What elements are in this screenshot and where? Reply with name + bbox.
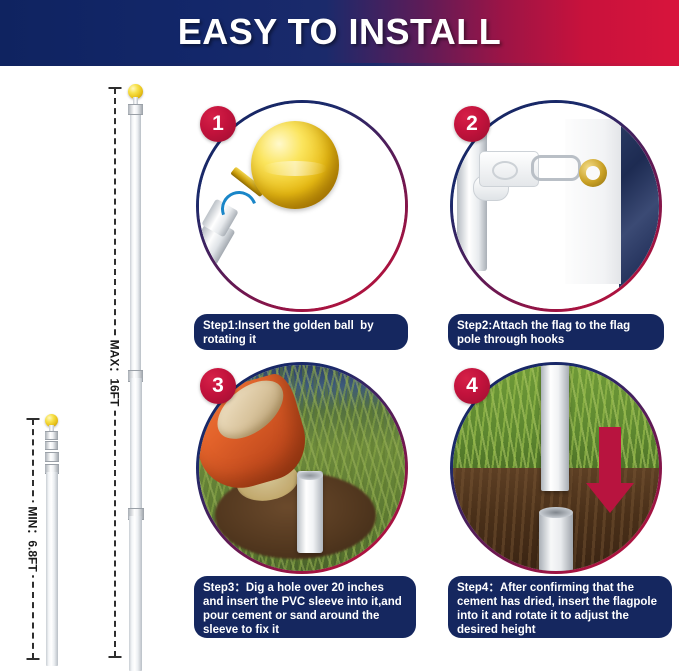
step-4-photo: 4 bbox=[450, 362, 662, 574]
step-number-badge-4: 4 bbox=[454, 368, 490, 404]
collapsed-flagpole bbox=[42, 414, 62, 666]
header-banner: EASY TO INSTALL bbox=[0, 0, 679, 63]
down-arrow-head-icon bbox=[586, 483, 634, 513]
golden-ball bbox=[251, 121, 339, 209]
flagpole-illustration-area: MAX：16FT MIN：6.8FT bbox=[0, 66, 190, 671]
pole-section-top bbox=[130, 104, 141, 374]
flag-white-header-band bbox=[565, 119, 621, 284]
extended-flagpole bbox=[126, 84, 148, 671]
step-number-badge-1: 1 bbox=[200, 106, 236, 142]
infographic-root: EASY TO INSTALL MAX：16FT MIN：6.8FT bbox=[0, 0, 679, 671]
step-number-badge-2: 2 bbox=[454, 106, 490, 142]
step-1-photo: 1 bbox=[196, 100, 408, 312]
measure-cap-bottom bbox=[109, 656, 122, 658]
step-3-photo: 3 bbox=[196, 362, 408, 574]
flagpole-being-inserted bbox=[541, 365, 569, 491]
step-caption-1: Step1:Insert the golden ball by rotating… bbox=[194, 314, 408, 350]
pole-section-bottom bbox=[129, 516, 142, 671]
pole-collar-1 bbox=[45, 431, 58, 440]
flag-mounting-clip bbox=[479, 151, 539, 187]
step-number-badge-3: 3 bbox=[200, 368, 236, 404]
pole-collar-3 bbox=[45, 452, 59, 462]
brass-grommet bbox=[579, 159, 607, 187]
pvc-sleeve bbox=[297, 471, 323, 553]
step-caption-2: Step2:Attach the flag to the flag pole t… bbox=[448, 314, 664, 350]
max-height-measure: MAX：16FT bbox=[102, 80, 128, 665]
page-title: EASY TO INSTALL bbox=[178, 11, 502, 53]
measure-cap-bottom bbox=[27, 658, 40, 660]
step-caption-4: Step4：After confirming that the cement h… bbox=[448, 576, 672, 638]
pole-section-bottom bbox=[46, 472, 58, 666]
navy-flag bbox=[619, 111, 659, 291]
buried-pvc-sleeve bbox=[539, 511, 573, 571]
carabiner-hook-icon bbox=[531, 155, 581, 181]
max-height-label: MAX：16FT bbox=[105, 335, 126, 410]
pole-collar-1 bbox=[128, 104, 143, 115]
down-arrow-icon bbox=[599, 427, 621, 485]
min-height-label: MIN：6.8FT bbox=[23, 502, 44, 575]
step-caption-3: Step3：Dig a hole over 20 inches and inse… bbox=[194, 576, 416, 638]
pole-collar-2 bbox=[45, 441, 58, 450]
step-2-photo: 2 bbox=[450, 100, 662, 312]
pole-section-middle bbox=[130, 378, 142, 528]
